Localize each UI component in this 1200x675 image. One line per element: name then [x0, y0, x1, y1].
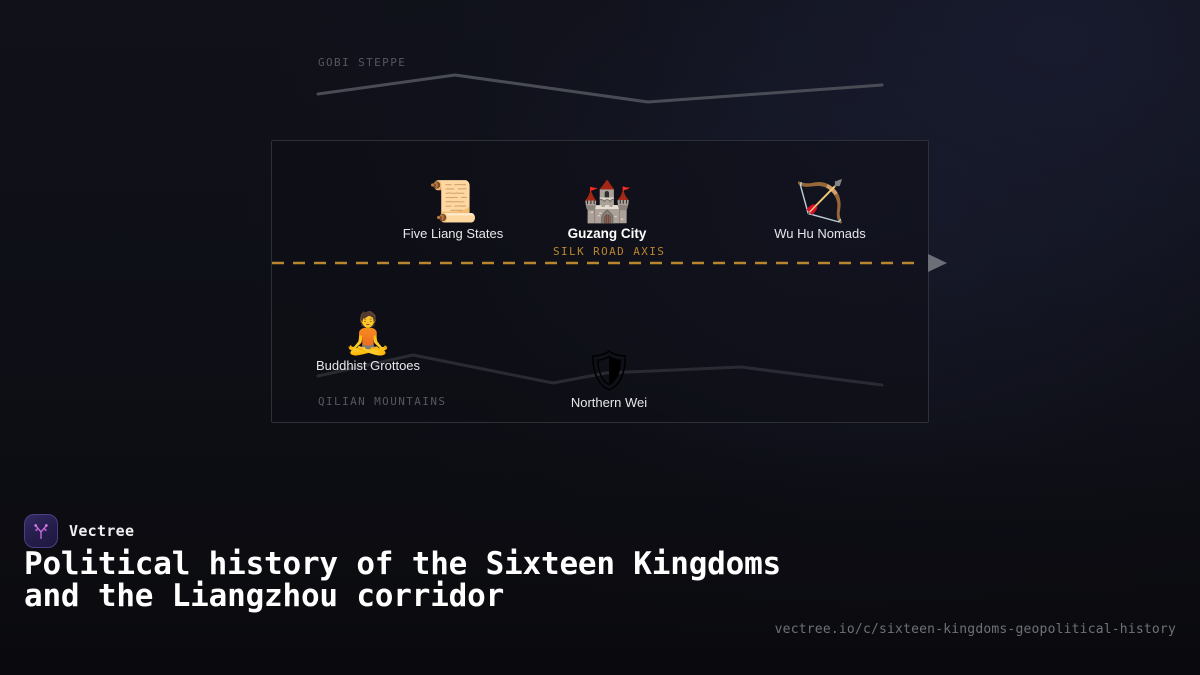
shield-icon: 🛡	[571, 349, 647, 393]
infographic-canvas: GOBI STEPPE QILIAN MOUNTAINS SILK ROAD A…	[0, 0, 1200, 675]
map-node-label: Guzang City	[568, 226, 647, 241]
map-node-label: Buddhist Grottoes	[316, 358, 420, 373]
map-node-label: Wu Hu Nomads	[774, 226, 866, 241]
site-url: vectree.io/c/sixteen-kingdoms-geopolitic…	[775, 622, 1176, 637]
footer: Vectree Political history of the Sixteen…	[0, 470, 1200, 675]
map-node-guzang-city[interactable]: 🏰 Guzang City	[568, 180, 647, 241]
bow-arrow-icon: 🏹	[774, 180, 866, 224]
region-label-gobi-steppe: GOBI STEPPE	[318, 56, 406, 69]
map-node-wu-hu-nomads[interactable]: 🏹 Wu Hu Nomads	[774, 180, 866, 241]
vectree-tree-logo-icon	[24, 514, 58, 548]
page-title: Political history of the Sixteen Kingdom…	[24, 548, 784, 612]
brand-block[interactable]: Vectree	[24, 514, 134, 548]
map-node-buddhist-grottoes[interactable]: 🧘 Buddhist Grottoes	[316, 312, 420, 373]
map-diagram: GOBI STEPPE QILIAN MOUNTAINS SILK ROAD A…	[0, 0, 1200, 470]
brand-name: Vectree	[69, 522, 134, 540]
scroll-icon: 📜	[403, 180, 503, 224]
map-node-northern-wei[interactable]: 🛡 Northern Wei	[571, 349, 647, 410]
map-node-label: Northern Wei	[571, 395, 647, 410]
map-node-label: Five Liang States	[403, 226, 503, 241]
axis-arrowhead-icon	[928, 254, 947, 272]
meditation-icon: 🧘	[316, 312, 420, 356]
region-label-qilian-mountains: QILIAN MOUNTAINS	[318, 395, 446, 408]
map-node-five-liang-states[interactable]: 📜 Five Liang States	[403, 180, 503, 241]
castle-icon: 🏰	[568, 180, 647, 224]
silk-road-axis-label: SILK ROAD AXIS	[553, 245, 665, 258]
